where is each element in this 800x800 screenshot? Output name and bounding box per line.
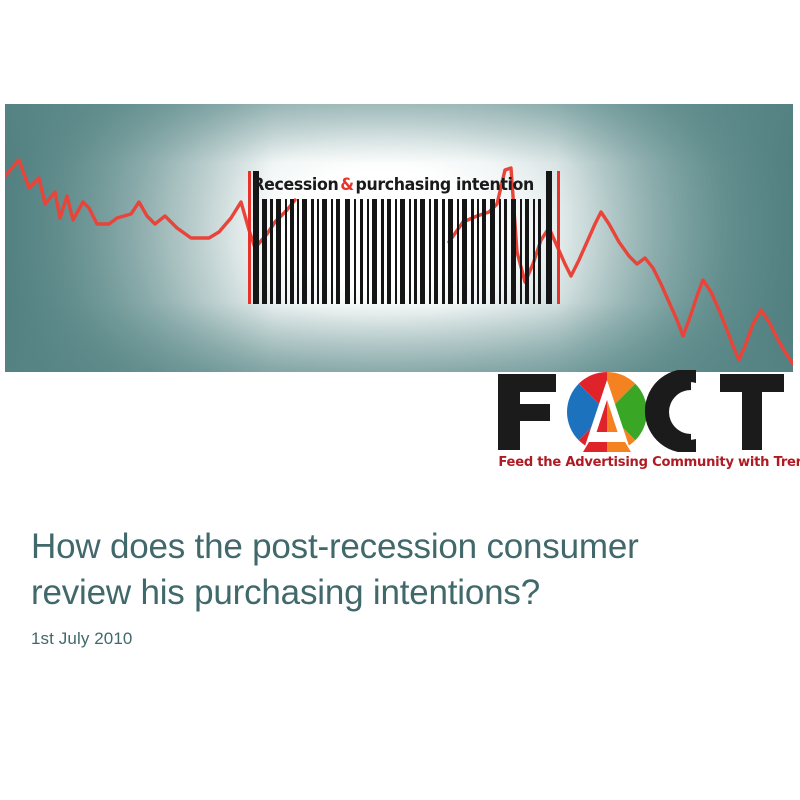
barcode-bar [448,199,453,304]
barcode-rail-left [248,171,251,304]
barcode-bar [420,199,425,304]
barcode-bars [262,199,544,304]
barcode-bar [331,199,333,304]
barcode-bar [381,199,384,304]
barcode-bar [360,199,363,304]
barcode-bar [429,199,431,304]
barcode-bar [434,199,438,304]
fact-logo-wordmark [494,370,786,452]
barcode-bar [442,199,445,304]
barcode-bar [285,199,287,304]
barcode-label-suffix: purchasing intention [355,175,533,195]
page-title-line-2: review his purchasing intentions? [31,570,761,616]
page-title-line-1: How does the post-recession consumer [31,524,761,570]
barcode-bar [262,199,267,304]
logo-letter-a-mark [567,370,647,452]
barcode-bar [270,199,273,304]
barcode-label-prefix: Recession [252,175,338,195]
barcode-bar [471,199,474,304]
barcode-bar [345,199,350,304]
barcode-bar [400,199,405,304]
barcode-guard-right [546,171,552,304]
barcode-label: Recession & purchasing intention [262,172,524,198]
barcode-bar [354,199,356,304]
barcode-bar [511,199,516,304]
barcode-bar [276,199,281,304]
barcode-bar [302,199,307,304]
barcode-bar [395,199,397,304]
barcode-bar [387,199,391,304]
barcode-bar [322,199,327,304]
barcode-bar [477,199,479,304]
hero-banner: Recession & purchasing intention [5,104,793,372]
barcode-bar [520,199,522,304]
barcode-rail-right [557,171,560,304]
barcode-bar [490,199,495,304]
barcode-bar [457,199,459,304]
barcode-bar [533,199,535,304]
barcode-bar [336,199,340,304]
barcode-bar [372,199,377,304]
fact-logo: Feed the Advertising Community with Tren… [494,370,786,478]
barcode-bar [290,199,294,304]
barcode-graphic: Recession & purchasing intention [248,171,560,304]
barcode-bar [482,199,486,304]
barcode-bar [462,199,467,304]
barcode-bar [297,199,299,304]
barcode-label-ampersand: & [338,175,355,195]
logo-letter-f [498,374,556,450]
barcode-bar [538,199,541,304]
page-title: How does the post-recession consumer rev… [31,524,761,616]
barcode-bar [499,199,501,304]
logo-a-crossbar [590,432,624,440]
barcode-bar [409,199,411,304]
logo-tagline: Feed the Advertising Community with Tren… [498,454,781,470]
slide-date: 1st July 2010 [31,629,132,649]
barcode-bar [525,199,529,304]
barcode-bar [317,199,319,304]
barcode-bar [311,199,314,304]
barcode-bar [414,199,417,304]
barcode-bar [367,199,369,304]
logo-letter-t [720,374,784,450]
barcode-bar [504,199,507,304]
